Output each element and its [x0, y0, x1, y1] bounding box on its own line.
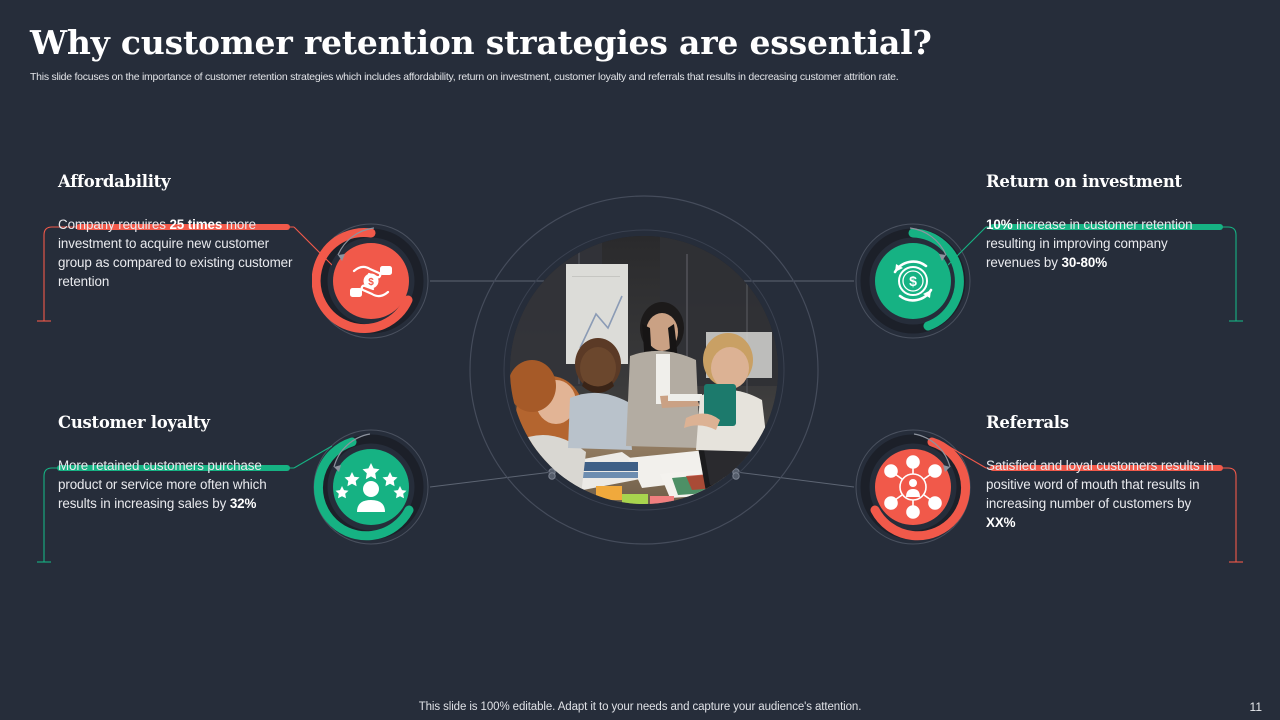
svg-text:$: $	[368, 277, 374, 288]
card-affordability: Affordability Company requires 25 times …	[32, 172, 332, 329]
bracket-referrals: Satisfied and loyal customers results in…	[948, 440, 1248, 570]
card-referrals: Referrals Satisfied and loyal customers …	[948, 413, 1248, 570]
text-segment: Company requires	[58, 217, 169, 232]
card-body-return-on-investment: 10% increase in customer retention resul…	[986, 215, 1222, 272]
card-customer-loyalty: Customer loyalty More retained customers…	[32, 413, 332, 570]
text-segment-bold: 32%	[230, 496, 257, 511]
text-segment-bold: XX%	[986, 515, 1015, 530]
card-title-return-on-investment: Return on investment	[986, 172, 1248, 191]
card-title-affordability: Affordability	[58, 172, 332, 191]
card-return-on-investment: Return on investment 10% increase in cus…	[948, 172, 1248, 329]
text-segment-bold: 10%	[986, 217, 1013, 232]
center-graphic	[468, 194, 820, 546]
text-segment: Satisfied and loyal customers results in…	[986, 458, 1213, 511]
text-segment-bold: 30-80%	[1061, 255, 1107, 270]
footer-note: This slide is 100% editable. Adapt it to…	[0, 701, 1280, 713]
bracket-customer-loyalty: More retained customers purchase product…	[32, 440, 332, 570]
business-team-meeting-photo	[510, 236, 778, 504]
card-body-customer-loyalty: More retained customers purchase product…	[58, 456, 294, 513]
card-body-referrals: Satisfied and loyal customers results in…	[986, 456, 1222, 533]
card-body-affordability: Company requires 25 times more investmen…	[58, 215, 294, 292]
card-title-customer-loyalty: Customer loyalty	[58, 413, 332, 432]
text-segment-bold: 25 times	[169, 217, 222, 232]
bracket-affordability: Company requires 25 times more investmen…	[32, 199, 332, 329]
slide-root: Why customer retention strategies are es…	[0, 0, 1280, 720]
svg-text:$: $	[909, 273, 917, 289]
page-number: 11	[1250, 700, 1262, 714]
bracket-return-on-investment: 10% increase in customer retention resul…	[948, 199, 1248, 329]
card-title-referrals: Referrals	[986, 413, 1248, 432]
